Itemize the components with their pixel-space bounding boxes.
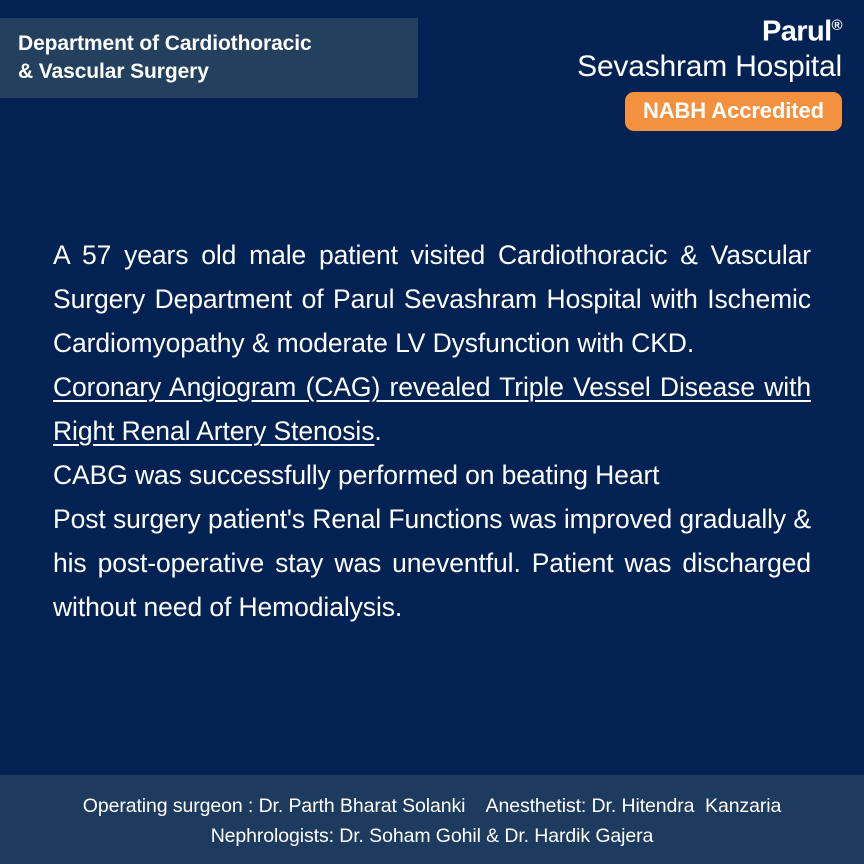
diagnosis-underlined-text: Coronary Angiogram (CAG) revealed Triple… [53,372,811,446]
case-paragraph-diagnosis: Coronary Angiogram (CAG) revealed Triple… [53,365,811,453]
header: Department of Cardiothoracic & Vascular … [0,0,864,140]
case-paragraph-intro: A 57 years old male patient visited Card… [53,233,811,365]
accreditation-badge: NABH Accredited [625,92,842,131]
case-paragraph-procedure: CABG was successfully performed on beati… [53,453,811,497]
department-banner: Department of Cardiothoracic & Vascular … [0,18,418,98]
credits-footer: Operating surgeon : Dr. Parth Bharat Sol… [0,775,864,864]
credits-line-surgeon-anesthetist: Operating surgeon : Dr. Parth Bharat Sol… [0,791,864,821]
brand-name: Parul® [422,10,842,48]
registered-trademark-icon: ® [832,17,842,34]
department-title-line-2: & Vascular Surgery [18,58,418,86]
department-title-line-1: Department of Cardiothoracic [18,30,418,58]
brand-subtitle: Sevashram Hospital [422,48,842,86]
diagnosis-period: . [374,416,381,446]
hospital-logo: Parul® Sevashram Hospital NABH Accredite… [422,10,842,131]
credits-line-nephrologists: Nephrologists: Dr. Soham Gohil & Dr. Har… [0,821,864,851]
case-paragraph-outcome: Post surgery patient's Renal Functions w… [53,497,811,629]
case-summary-text: A 57 years old male patient visited Card… [53,233,811,629]
brand-name-text: Parul [762,16,832,48]
